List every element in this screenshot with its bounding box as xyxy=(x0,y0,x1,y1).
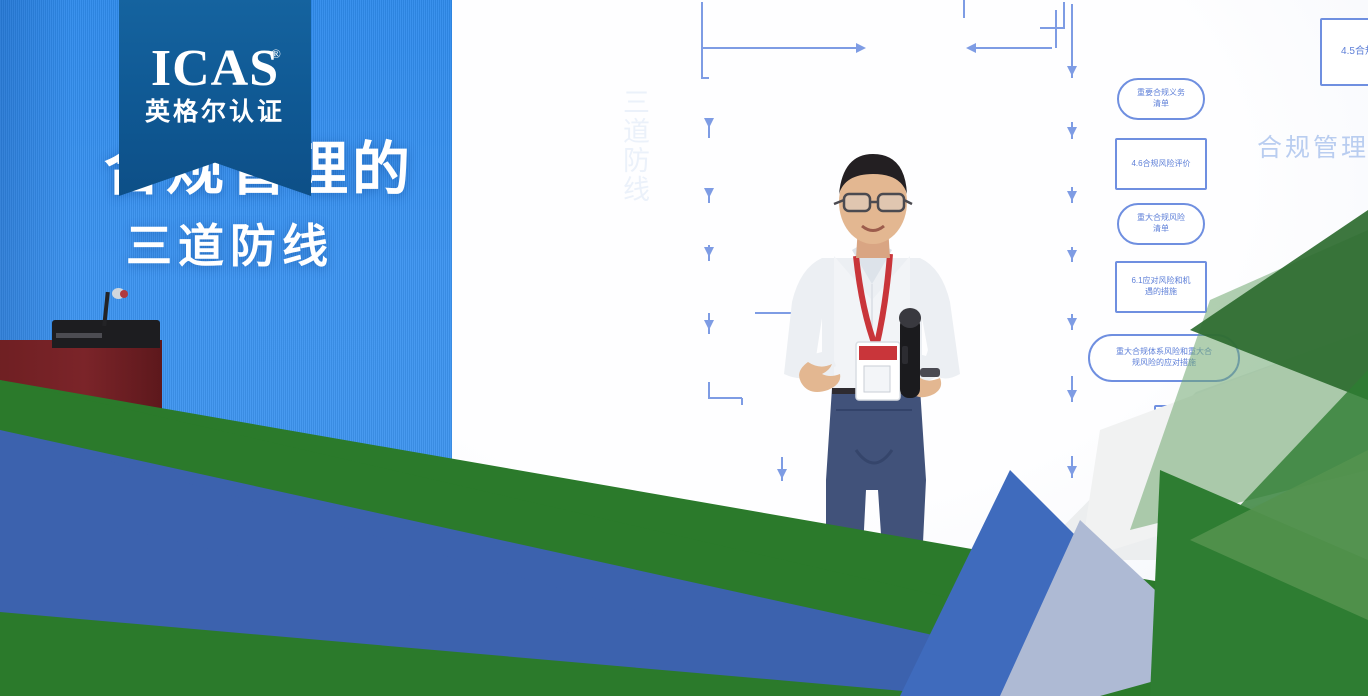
flowchart-heading: 合规管理的三道防线 xyxy=(1257,128,1368,164)
audience-head xyxy=(742,562,800,618)
flowchart-node: 6.1应对风险和机遇的措施 xyxy=(1115,261,1207,313)
podium-microphone-windscreen-icon xyxy=(120,290,128,298)
flowchart-node: 4.5合规义务 xyxy=(1320,18,1368,86)
flowchart-node: 重要合规义务风险得到控制 xyxy=(1180,481,1300,525)
flowchart-node: 重大合规风险清单 xyxy=(1117,203,1205,245)
wall-title-line2: 三道防线 xyxy=(126,210,456,276)
registered-trademark-icon: ® xyxy=(271,46,281,62)
audience-head xyxy=(1150,596,1220,658)
podium-control-strip xyxy=(56,333,102,338)
presenter-figure xyxy=(760,150,990,620)
icas-chinese-name: 英格尔认证 xyxy=(119,100,311,125)
flowchart-node: 重大合规体系风险和重大合规风险的应对措施 xyxy=(1088,334,1240,382)
audience-head xyxy=(634,540,690,596)
flowchart-node: 重要合规义务清单 xyxy=(1117,78,1205,120)
flowchart-node: 4.6合规风险评价 xyxy=(1115,138,1207,190)
conference-photo: 合规管理的 三道防线 ICAS ® 英格尔认证 三道防线 xyxy=(0,0,1368,696)
flowchart-node: 8.1运行 xyxy=(1154,405,1314,457)
audience-head xyxy=(984,540,1046,602)
icas-wordmark: ICAS xyxy=(119,43,311,95)
podium xyxy=(0,340,162,470)
flowchart-node: 9.1监视测量分析评价 xyxy=(1212,548,1320,600)
